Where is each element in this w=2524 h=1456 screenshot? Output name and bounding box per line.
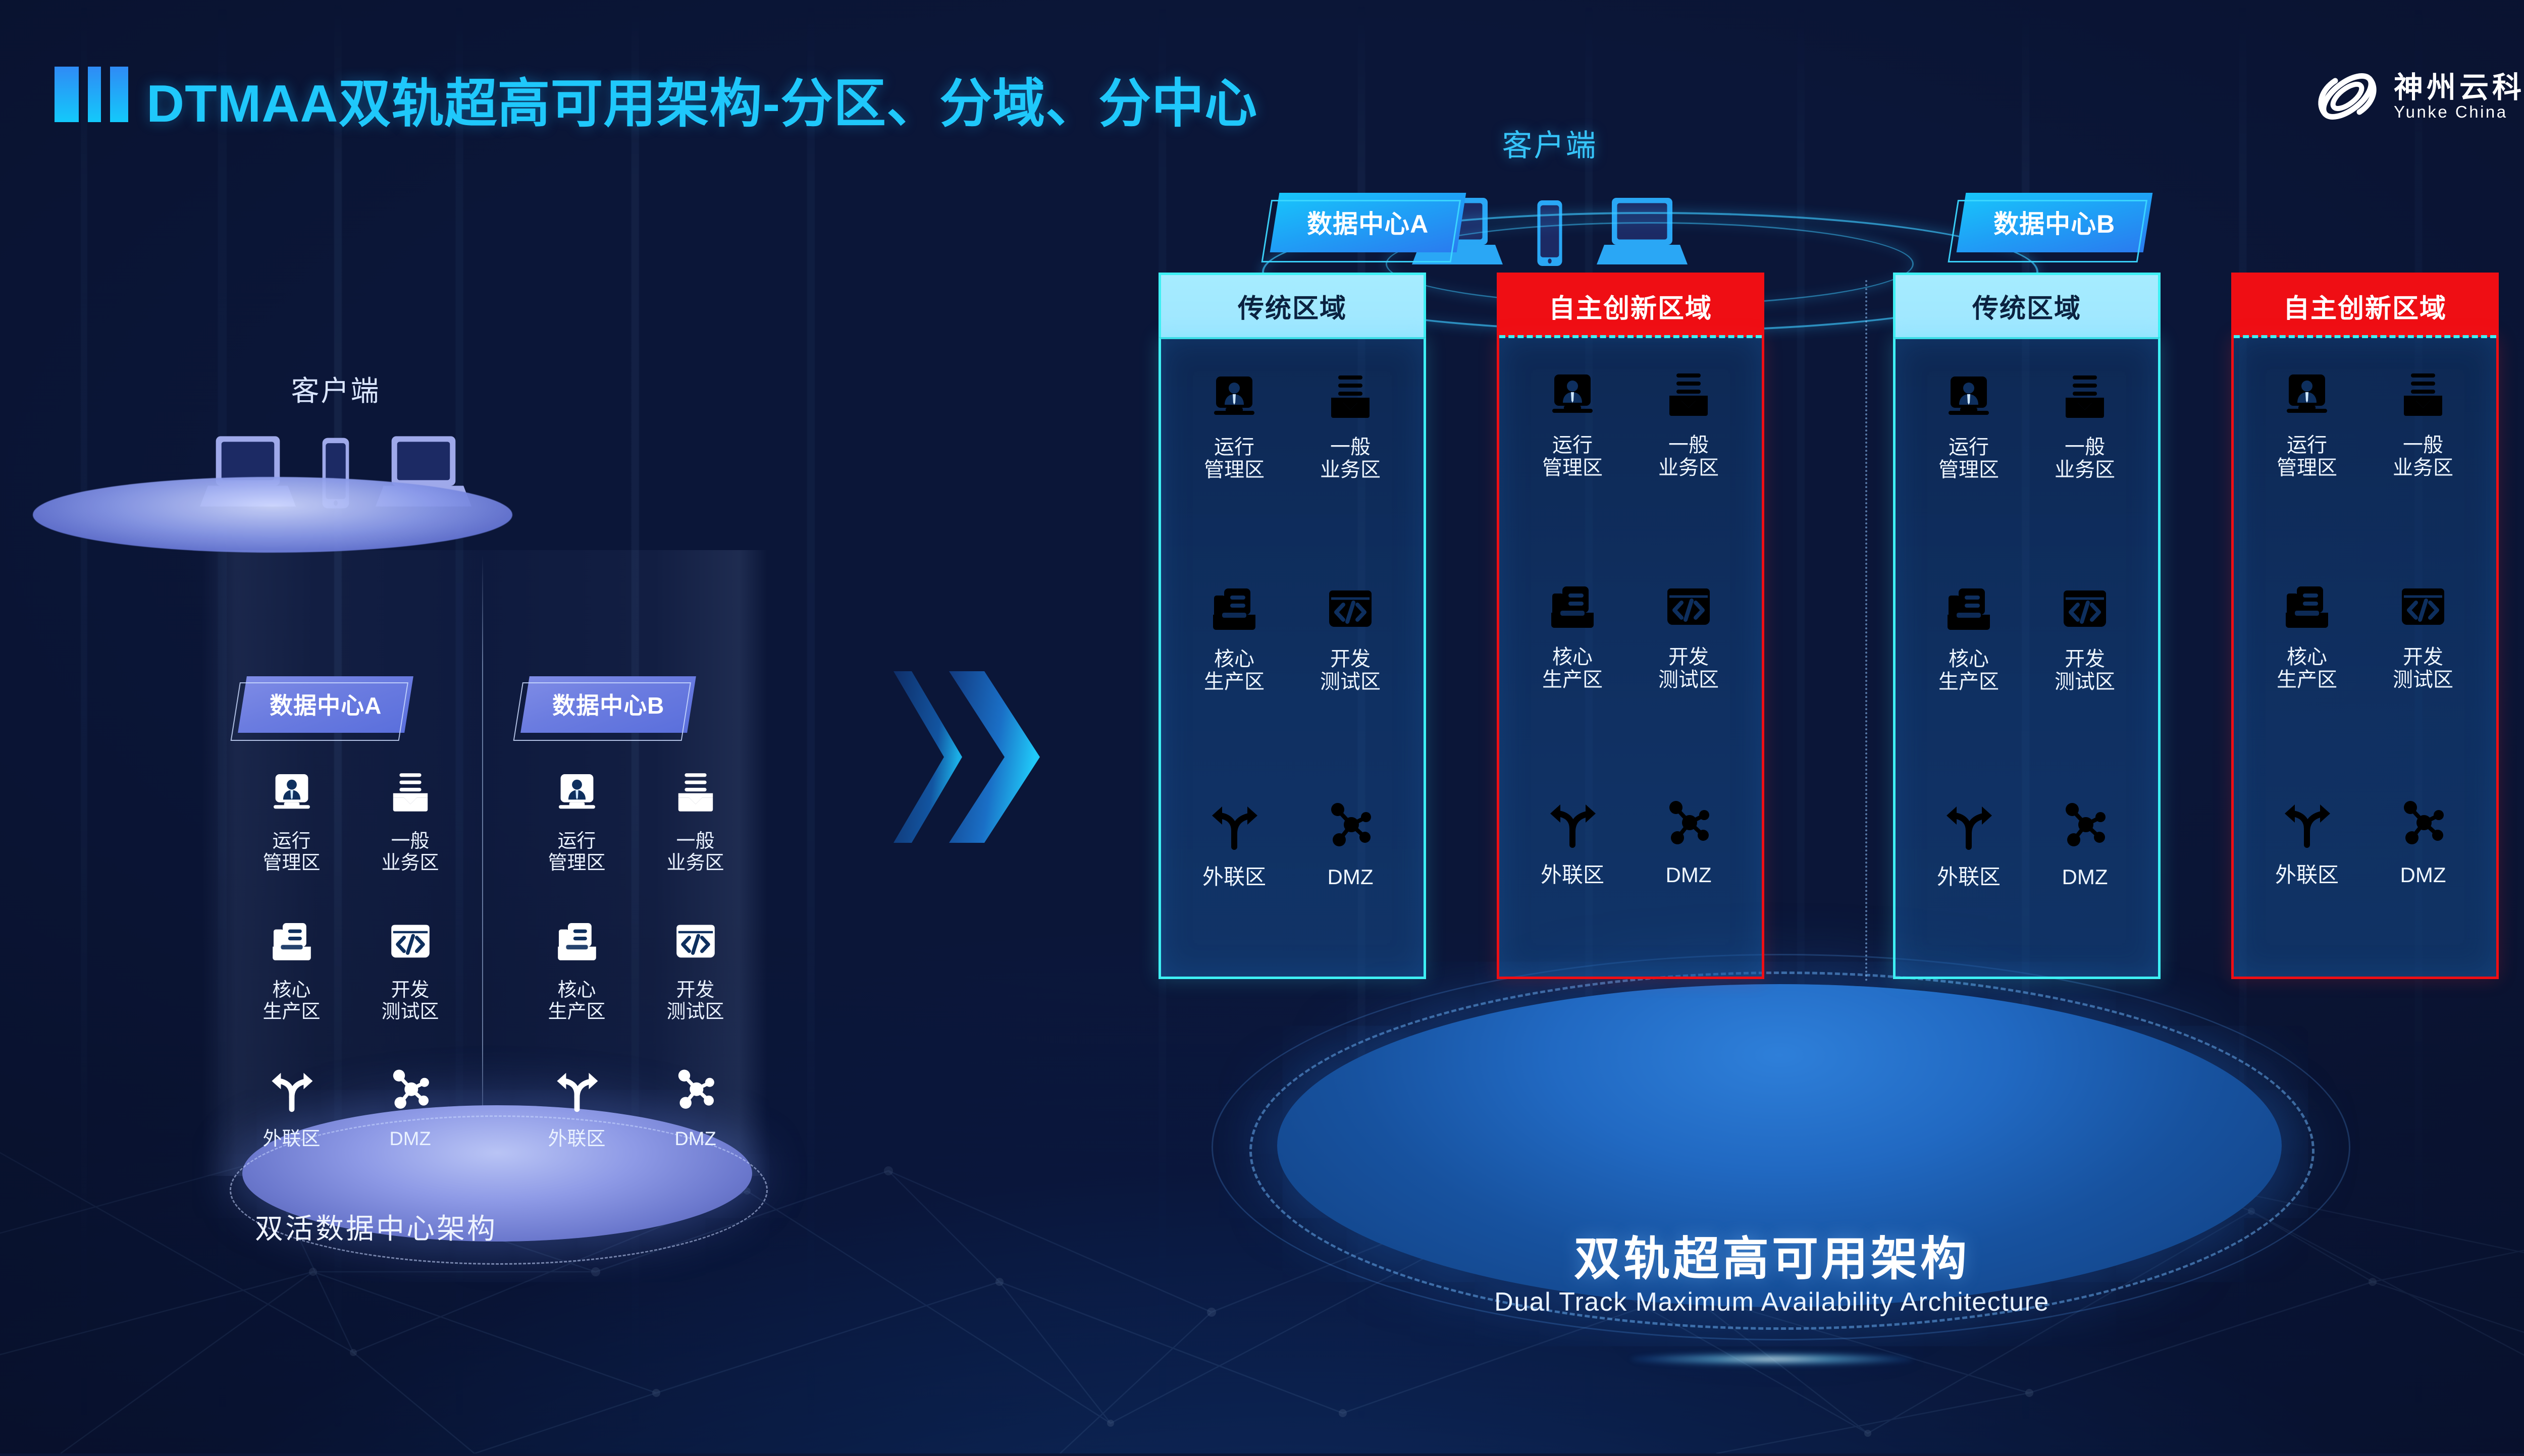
right-dc-tag-b-label: 数据中心B xyxy=(1994,204,2116,240)
user-monitor-icon xyxy=(1171,364,1297,429)
dc-a-innov-zone-devtest[interactable]: 开发 测试区 xyxy=(1625,574,1752,691)
dc-b-trad-zone-devtest[interactable]: 开发 测试区 xyxy=(2022,576,2148,693)
server-docs-icon xyxy=(2244,574,2370,639)
left-b-zone-extranet[interactable]: 外联区 xyxy=(520,1060,634,1150)
dc-a-innov-zone-extranet[interactable]: 外联区 xyxy=(1509,791,1636,887)
dc-b-innovation-header: 自主创新区域 xyxy=(2231,273,2499,337)
inbox-tray-icon xyxy=(1287,364,1413,429)
dc-a-trad-zone-dmz[interactable]: DMZ xyxy=(1287,793,1413,889)
left-b-zone-ops[interactable]: 运行 管理区 xyxy=(520,762,634,874)
branch-arrows-icon xyxy=(235,1060,348,1120)
code-window-icon xyxy=(353,911,467,972)
dc-a-trad-zone-core[interactable]: 核心 生产区 xyxy=(1171,576,1297,693)
dc-b-innovation-area[interactable]: 自主创新区域 运行 管理区 一般 业务区 核心 生产区 开发 测试区 xyxy=(2231,273,2499,979)
network-nodes-icon xyxy=(1287,793,1413,858)
network-nodes-icon xyxy=(2360,791,2486,856)
network-nodes-icon xyxy=(353,1060,467,1120)
dc-a-innov-zone-ops[interactable]: 运行 管理区 xyxy=(1509,362,1636,479)
dc-a-innovation-header: 自主创新区域 xyxy=(1497,273,1764,337)
dc-a-trad-zone-extranet[interactable]: 外联区 xyxy=(1171,793,1297,889)
dc-b-innov-zone-extranet[interactable]: 外联区 xyxy=(2244,791,2370,887)
dc-b-innov-zone-devtest[interactable]: 开发 测试区 xyxy=(2360,574,2486,691)
right-dc-tag-a-label: 数据中心A xyxy=(1307,204,1429,240)
dc-a-trad-zone-ops[interactable]: 运行 管理区 xyxy=(1171,364,1297,481)
left-b-zone-dmz[interactable]: DMZ xyxy=(639,1060,752,1150)
code-window-icon xyxy=(2360,574,2486,639)
left-dc-tag-b-label: 数据中心B xyxy=(552,687,664,721)
left-diagram-dual-active-dc: 客户端 数据中心A 数据中心B 运行 管理区 一般 业务区 核心 生产区 开发 … xyxy=(0,167,904,1252)
network-nodes-icon xyxy=(2022,793,2148,858)
left-a-zone-dmz[interactable]: DMZ xyxy=(353,1060,467,1150)
right-title-underglow xyxy=(1631,1353,1913,1366)
network-nodes-icon xyxy=(1625,791,1752,856)
left-a-zone-general[interactable]: 一般 业务区 xyxy=(353,762,467,874)
code-window-icon xyxy=(1287,576,1413,641)
right-client-label: 客户端 xyxy=(1373,121,1726,165)
dc-b-traditional-area[interactable]: 传统区域 运行 管理区 一般 业务区 核心 生产区 开发 测试区 外联区 xyxy=(1893,273,2161,979)
left-dc-tag-b[interactable]: 数据中心B xyxy=(520,676,696,733)
dc-b-traditional-body: 运行 管理区 一般 业务区 核心 生产区 开发 测试区 外联区 DMZ xyxy=(1893,337,2161,979)
network-nodes-icon xyxy=(639,1060,752,1120)
right-diagram-title-en: Dual Track Maximum Availability Architec… xyxy=(959,1287,2524,1317)
server-docs-icon xyxy=(1906,576,2032,641)
left-a-zone-extranet[interactable]: 外联区 xyxy=(235,1060,348,1150)
code-window-icon xyxy=(1625,574,1752,639)
dc-a-trad-zone-general[interactable]: 一般 业务区 xyxy=(1287,364,1413,481)
dc-a-innovation-dashed-divider xyxy=(1499,335,1762,338)
user-monitor-icon xyxy=(1906,364,2032,429)
dc-b-innov-zone-ops[interactable]: 运行 管理区 xyxy=(2244,362,2370,479)
server-docs-icon xyxy=(1509,574,1636,639)
dc-b-innovation-dashed-divider xyxy=(2234,335,2496,338)
dc-b-innov-zone-dmz[interactable]: DMZ xyxy=(2360,791,2486,887)
left-a-zone-ops[interactable]: 运行 管理区 xyxy=(235,762,348,874)
inbox-tray-icon xyxy=(2022,364,2148,429)
dc-a-traditional-area[interactable]: 传统区域 运行 管理区 一般 业务区 核心 生产区 开发 测试区 外联区 xyxy=(1159,273,1426,979)
inbox-tray-icon xyxy=(639,762,752,823)
dc-a-innovation-body: 运行 管理区 一般 业务区 核心 生产区 开发 测试区 外联区 DMZ xyxy=(1497,337,1764,979)
left-b-zone-devtest[interactable]: 开发 测试区 xyxy=(639,911,752,1022)
left-dc-tag-a-label: 数据中心A xyxy=(270,687,382,721)
left-diagram-caption: 双活数据中心架构 xyxy=(0,1206,752,1247)
dc-b-innovation-body: 运行 管理区 一般 业务区 核心 生产区 开发 测试区 外联区 DMZ xyxy=(2231,337,2499,979)
user-monitor-icon xyxy=(2244,362,2370,427)
dc-a-innov-zone-core[interactable]: 核心 生产区 xyxy=(1509,574,1636,691)
dc-b-traditional-header: 传统区域 xyxy=(1893,273,2161,337)
right-dc-tag-b[interactable]: 数据中心B xyxy=(1957,193,2153,252)
code-window-icon xyxy=(2022,576,2148,641)
dc-b-trad-zone-dmz[interactable]: DMZ xyxy=(2022,793,2148,889)
dc-b-innov-zone-general[interactable]: 一般 业务区 xyxy=(2360,362,2486,479)
dc-a-innovation-area[interactable]: 自主创新区域 运行 管理区 一般 业务区 核心 生产区 开发 测试区 xyxy=(1497,273,1764,979)
dc-b-trad-zone-general[interactable]: 一般 业务区 xyxy=(2022,364,2148,481)
left-client-platform-disc xyxy=(33,477,512,553)
left-a-zone-core[interactable]: 核心 生产区 xyxy=(235,911,348,1022)
left-b-zone-general[interactable]: 一般 业务区 xyxy=(639,762,752,874)
branch-arrows-icon xyxy=(2244,791,2370,856)
inbox-tray-icon xyxy=(2360,362,2486,427)
user-monitor-icon xyxy=(1509,362,1636,427)
server-docs-icon xyxy=(1171,576,1297,641)
inbox-tray-icon xyxy=(353,762,467,823)
dc-a-innov-zone-dmz[interactable]: DMZ xyxy=(1625,791,1752,887)
dc-a-traditional-body: 运行 管理区 一般 业务区 核心 生产区 开发 测试区 外联区 DMZ xyxy=(1159,337,1426,979)
right-diagram-title-cn: 双轨超高可用架构 xyxy=(959,1221,2524,1288)
dc-a-trad-zone-devtest[interactable]: 开发 测试区 xyxy=(1287,576,1413,693)
user-monitor-icon xyxy=(520,762,634,823)
branch-arrows-icon xyxy=(520,1060,634,1120)
title-accent-bars xyxy=(55,67,128,122)
right-datacenter-separator xyxy=(1865,280,1867,982)
left-dc-tag-a[interactable]: 数据中心A xyxy=(238,676,413,733)
branch-arrows-icon xyxy=(1906,793,2032,858)
inbox-tray-icon xyxy=(1625,362,1752,427)
code-window-icon xyxy=(639,911,752,972)
dc-a-traditional-header: 传统区域 xyxy=(1159,273,1426,337)
user-monitor-icon xyxy=(235,762,348,823)
branch-arrows-icon xyxy=(1171,793,1297,858)
dc-b-trad-zone-ops[interactable]: 运行 管理区 xyxy=(1906,364,2032,481)
left-b-zone-core[interactable]: 核心 生产区 xyxy=(520,911,634,1022)
dc-b-innov-zone-core[interactable]: 核心 生产区 xyxy=(2244,574,2370,691)
left-center-divider xyxy=(482,555,483,1156)
dc-b-trad-zone-core[interactable]: 核心 生产区 xyxy=(1906,576,2032,693)
branch-arrows-icon xyxy=(1509,791,1636,856)
server-docs-icon xyxy=(520,911,634,972)
left-a-zone-devtest[interactable]: 开发 测试区 xyxy=(353,911,467,1022)
right-diagram-dual-track-architecture: 客户端 数据中心A 数据中心B 传统区域 运行 管理区 一般 业务区 xyxy=(959,61,2524,1423)
dc-b-trad-zone-extranet[interactable]: 外联区 xyxy=(1906,793,2032,889)
dc-a-innov-zone-general[interactable]: 一般 业务区 xyxy=(1625,362,1752,479)
left-client-label: 客户端 xyxy=(0,368,671,409)
right-dc-tag-a[interactable]: 数据中心A xyxy=(1270,193,1466,252)
server-docs-icon xyxy=(235,911,348,972)
